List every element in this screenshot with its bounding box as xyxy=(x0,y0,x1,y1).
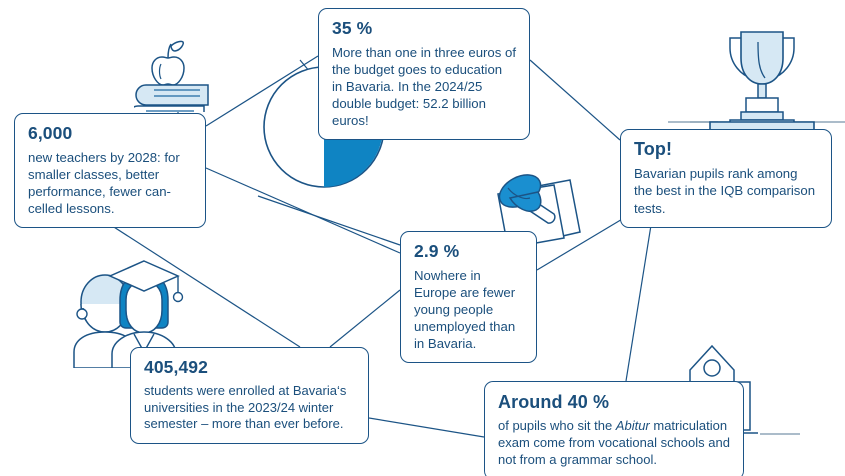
card-budget-headline: 35 % xyxy=(332,18,516,39)
trophy-icon xyxy=(714,18,810,124)
card-teachers: 6,000 new teachers by 2028: for smaller … xyxy=(14,113,206,228)
card-unemployment: 2.9 % Nowhere in Europe are fewer young … xyxy=(400,231,537,363)
card-teachers-body: new teachers by 2028: for smaller classe… xyxy=(28,149,192,218)
connector-students-abitur xyxy=(369,418,484,437)
card-students-body: students were enrolled at Bavaria‘s univ… xyxy=(144,383,355,434)
connector-top-abitur xyxy=(626,219,652,381)
card-unemployment-body: Nowhere in Europe are fewer young people… xyxy=(414,267,523,353)
apple-on-books-icon xyxy=(134,30,238,112)
card-teachers-headline: 6,000 xyxy=(28,123,192,144)
infographic-canvas: 6,000 new teachers by 2028: for smaller … xyxy=(0,0,845,476)
connector-pie-unemployment xyxy=(258,196,400,245)
card-abitur-body-emphasis: Abitur xyxy=(616,418,650,433)
card-students-headline: 405,492 xyxy=(144,357,355,378)
card-unemployment-headline: 2.9 % xyxy=(414,241,523,262)
card-abitur-headline: Around 40 % xyxy=(498,392,730,413)
card-abitur-body: of pupils who sit the Abitur matriculati… xyxy=(498,418,730,469)
connector-unemployment-students xyxy=(330,290,400,347)
card-top-headline: Top! xyxy=(634,139,818,160)
card-top-body: Bavarian pupils rank among the best in t… xyxy=(634,165,818,216)
card-top-ranking: Top! Bavarian pupils rank among the best… xyxy=(620,129,832,228)
card-budget-body: More than one in three euros of the budg… xyxy=(332,44,516,130)
card-students: 405,492 students were enrolled at Bavari… xyxy=(130,347,369,444)
connector-budget-top xyxy=(530,60,620,140)
card-budget: 35 % More than one in three euros of the… xyxy=(318,8,530,140)
card-abitur: Around 40 % of pupils who sit the Abitur… xyxy=(484,381,744,476)
card-abitur-body-pre: of pupils who sit the xyxy=(498,418,616,433)
